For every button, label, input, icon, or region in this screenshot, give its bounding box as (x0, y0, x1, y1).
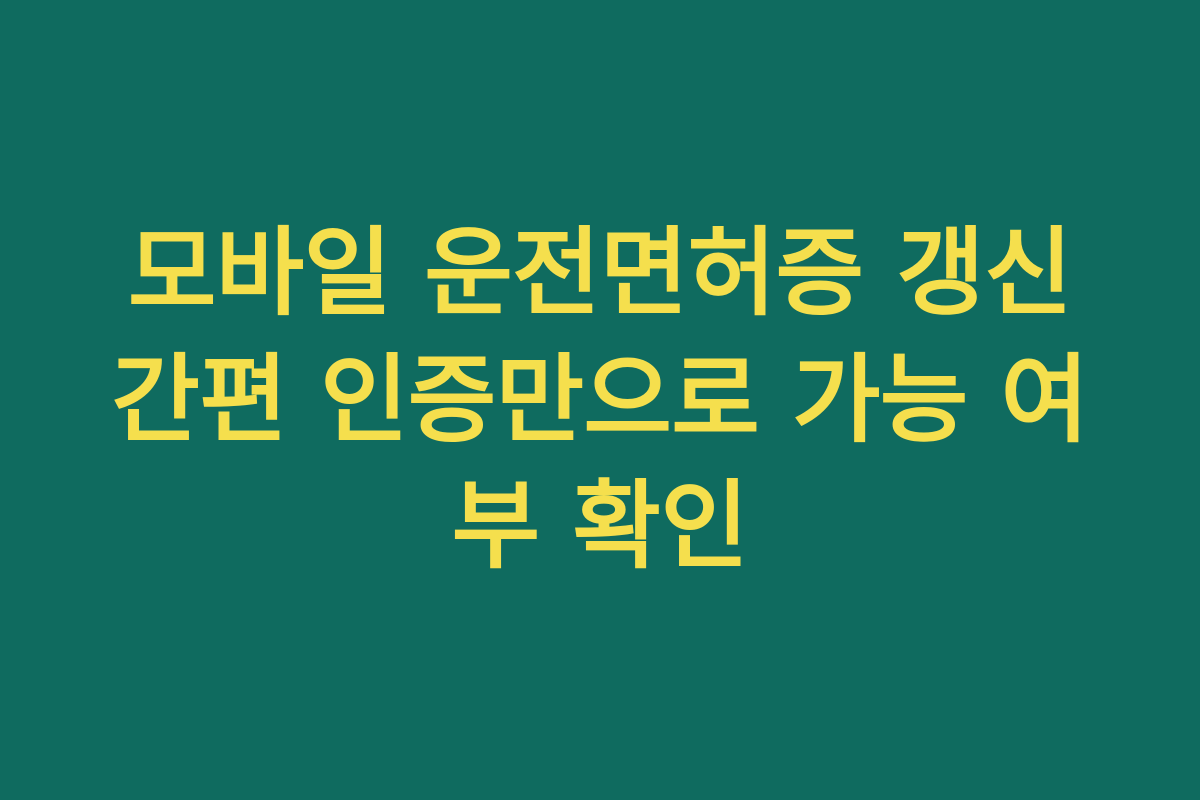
title-card: 모바일 운전면허증 갱신 간편 인증만으로 가능 여 부 확인 (0, 0, 1200, 800)
headline-line-1: 모바일 운전면허증 갱신 (86, 210, 1114, 337)
headline-line-3: 부 확인 (86, 463, 1114, 590)
page-title: 모바일 운전면허증 갱신 간편 인증만으로 가능 여 부 확인 (86, 210, 1114, 590)
headline-line-2: 간편 인증만으로 가능 여 (86, 337, 1114, 464)
